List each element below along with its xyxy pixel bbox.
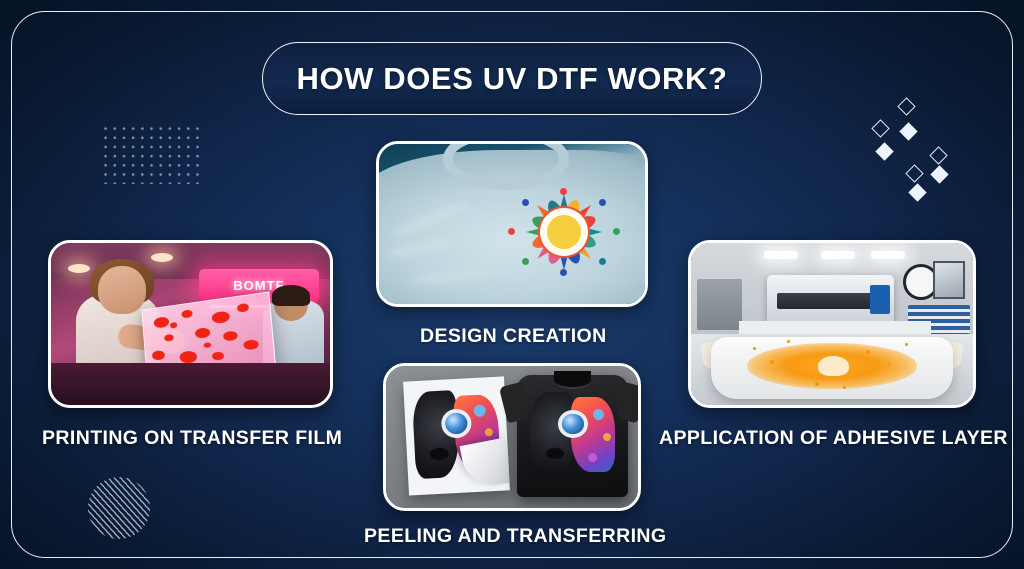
page-title-pill: HOW DOES UV DTF WORK? bbox=[262, 42, 762, 115]
step-label-printing-on-transfer-film: PRINTING ON TRANSFER FILM bbox=[42, 427, 342, 450]
photo-application-of-adhesive-layer bbox=[691, 243, 973, 405]
transferred-artwork bbox=[530, 392, 614, 477]
press-bed bbox=[51, 363, 330, 405]
diamond-icon bbox=[929, 146, 947, 164]
diamond-icon bbox=[871, 119, 889, 137]
background-worker-hair bbox=[272, 285, 310, 306]
diamond-icon bbox=[897, 97, 915, 115]
tshirt-garment bbox=[517, 375, 628, 497]
printer-table bbox=[739, 321, 931, 334]
diamond-cluster-decoration bbox=[866, 98, 974, 202]
step-image-application-of-adhesive-layer bbox=[688, 240, 976, 408]
diamond-icon bbox=[875, 142, 893, 160]
printed-emblem bbox=[818, 356, 849, 375]
diamond-icon bbox=[905, 164, 923, 182]
page-title: HOW DOES UV DTF WORK? bbox=[296, 61, 727, 97]
dot-grid-decoration bbox=[101, 124, 205, 184]
lamp-icon bbox=[151, 253, 173, 262]
mandala-design-graphic bbox=[504, 186, 624, 279]
peeling-corner bbox=[460, 437, 510, 490]
photo-printing-on-transfer-film: BOMTF bbox=[51, 243, 330, 405]
step-label-design-creation: DESIGN CREATION bbox=[420, 325, 607, 348]
diamond-icon bbox=[908, 183, 926, 201]
step-label-application-of-adhesive-layer: APPLICATION OF ADHESIVE LAYER bbox=[659, 427, 1008, 450]
transfer-sheet bbox=[403, 376, 510, 495]
dtf-printer-machine bbox=[767, 275, 894, 327]
diamond-icon bbox=[930, 165, 948, 183]
mandala-core bbox=[547, 215, 581, 249]
photo-design-creation bbox=[379, 144, 645, 304]
step-image-design-creation bbox=[376, 141, 648, 307]
diamond-icon bbox=[899, 122, 917, 140]
wall-poster bbox=[933, 261, 965, 299]
step-image-peeling-and-transferring bbox=[383, 363, 641, 511]
step-label-peeling-and-transferring: PEELING AND TRANSFERRING bbox=[364, 525, 666, 548]
storage-shelf bbox=[697, 279, 742, 331]
printer-feed-slot bbox=[777, 293, 884, 309]
photo-peeling-and-transferring bbox=[386, 366, 638, 508]
lamp-icon bbox=[68, 264, 90, 273]
ceiling-light-icon bbox=[764, 251, 798, 259]
operator-head bbox=[98, 266, 145, 315]
ceiling-light-icon bbox=[821, 251, 855, 259]
hatched-circle-decoration bbox=[88, 477, 150, 539]
infographic-canvas: HOW DOES UV DTF WORK? BOMTF bbox=[0, 0, 1024, 569]
tshirt-sleeve-right bbox=[614, 382, 638, 423]
step-image-printing-on-transfer-film: BOMTF bbox=[48, 240, 333, 408]
printer-control-panel bbox=[870, 285, 890, 314]
tshirt-collar bbox=[554, 371, 592, 389]
ceiling-light-icon bbox=[871, 251, 905, 259]
